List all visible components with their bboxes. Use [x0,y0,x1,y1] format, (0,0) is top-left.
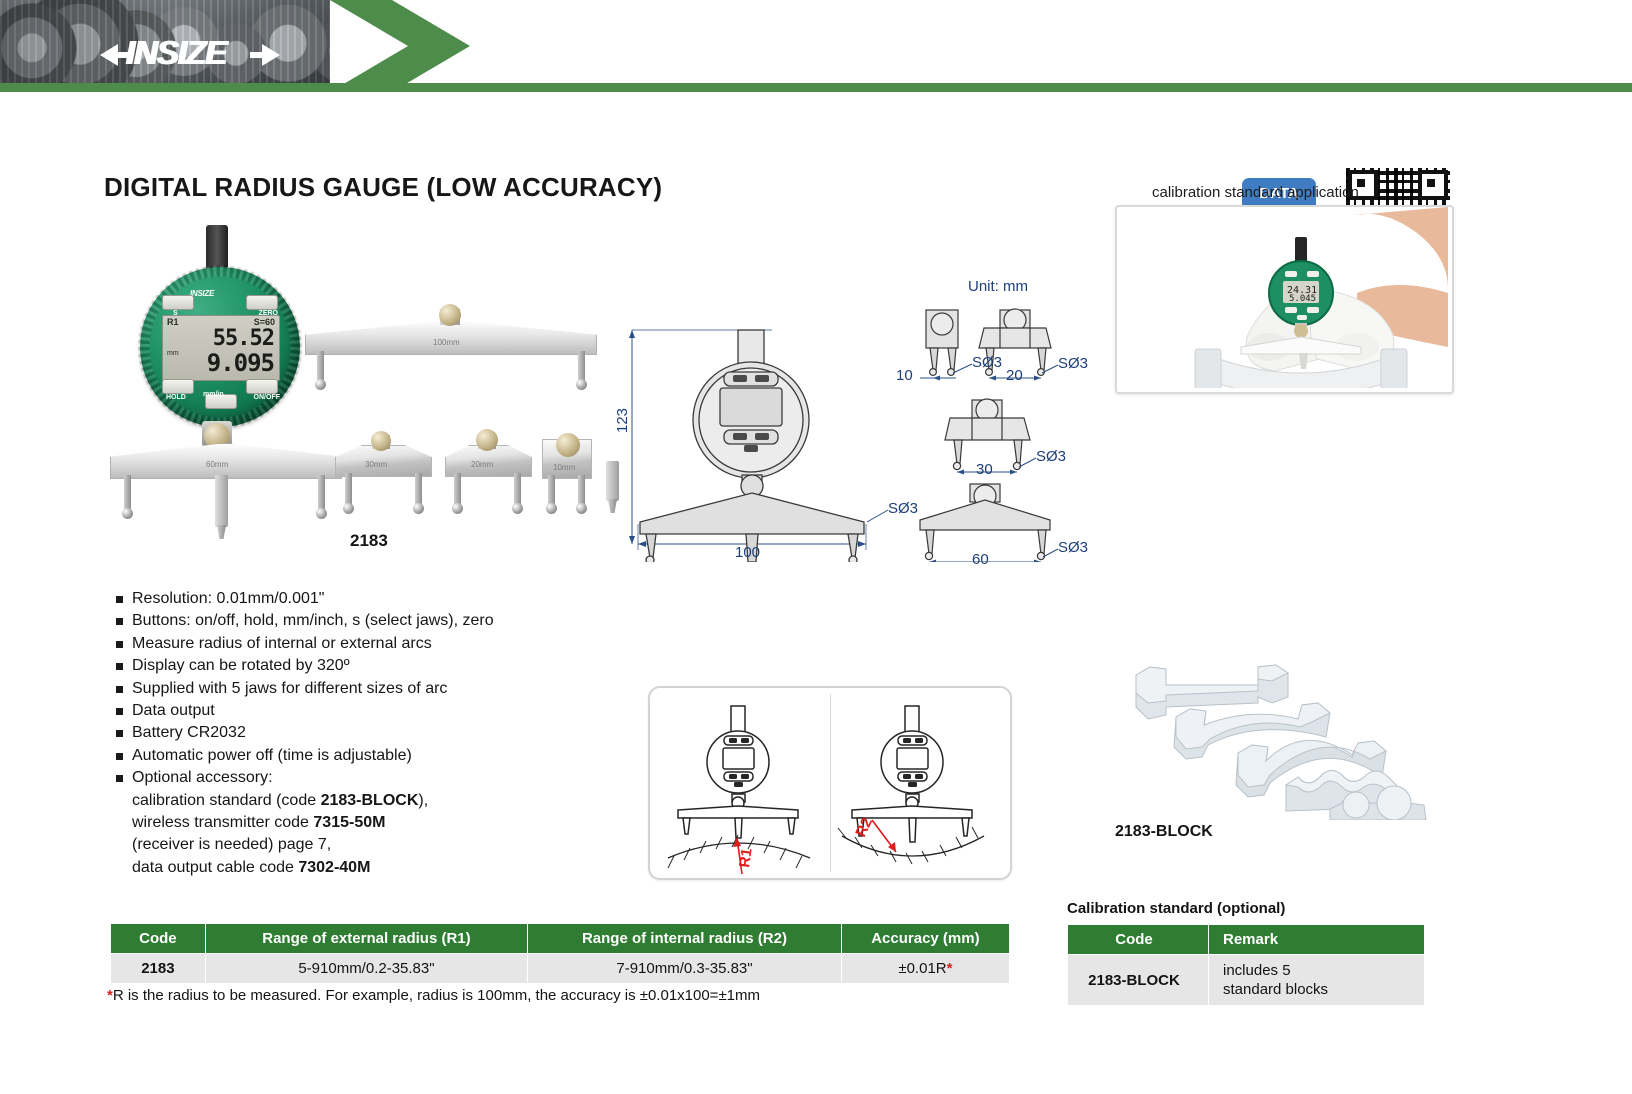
opt-line1-code: 2183-BLOCK [321,792,419,809]
cal-remark-line-2: standard blocks [1223,980,1416,999]
dim-ball-dia-main: SØ3 [888,500,918,517]
lcd-value-bottom: 9.095 [163,349,274,377]
calibration-table-title: Calibration standard (optional) [1067,900,1285,917]
optional-accessory-line-4: data output cable code 7302-40M [110,857,494,879]
dim-ball-dia-20: SØ3 [1058,355,1088,372]
opt-line1-post: ), [418,792,428,809]
page-title: DIGITAL RADIUS GAUGE (LOW ACCURACY) [104,172,662,203]
jaw-10mm-label: 10mm [553,463,575,472]
feature-item: Supplied with 5 jaws for different sizes… [110,678,494,700]
dim-ball-dia-60: SØ3 [1058,539,1088,556]
footnote-marker-icon: * [947,960,953,977]
feature-item: Resolution: 0.01mm/0.001" [110,588,494,610]
dimension-drawing: 123 100 SØ3 10 SØ3 20 SØ3 30 SØ3 60 SØ3 [620,272,1060,562]
jaw-60mm-label: 60mm [206,460,228,469]
gauge-button-hold [162,379,194,394]
center-probe [215,475,228,527]
jaw-100mm-leg-left [317,351,324,381]
feature-item-optional-accessory: Optional accessory: [110,767,494,789]
logo-right-arrow-icon [262,44,280,66]
jaw-10mm-leg-left [548,475,555,505]
dim-ball-dia-10: SØ3 [972,354,1002,371]
jaw-30mm-leg-left [345,473,352,505]
jaw-20mm-label: 20mm [471,460,493,469]
dim-jaw-10-label: 10 [896,367,913,384]
feature-item: Battery CR2032 [110,722,494,744]
dim-ball-dia-30: SØ3 [1036,448,1066,465]
optional-accessory-heading: Optional accessory: [132,769,273,786]
gauge-lcd-display: R1 S=60 mm 55.52 9.095 [162,315,280,381]
table-row: 2183 5-910mm/0.2-35.83" 7-910mm/0.3-35.8… [111,954,1010,984]
green-baseline-bar [330,83,1632,92]
application-photo: 24.31 5.045 [1115,205,1454,394]
product-photo: INSIZE S ZERO R1 S=60 mm 55.52 9.095 HOL… [110,225,620,535]
jaw-20mm-ball [476,429,498,451]
cell-external-range: 5-910mm/0.2-35.83" [205,954,527,984]
cell-accuracy-value: ±0.01R [898,960,946,977]
jaw-30mm-label: 30mm [365,460,387,469]
gauge-button-mmin-label: mm/in [203,391,224,398]
gauge-housing: INSIZE S ZERO R1 S=60 mm 55.52 9.095 HOL… [140,267,300,427]
gauge-button-hold-label: HOLD [166,394,186,401]
table-footnote: *R is the radius to be measured. For exa… [107,987,760,1004]
page-header: INSIZE [0,0,1632,92]
svg-text:5.045: 5.045 [1289,294,1316,304]
svg-text:R2: R2 [852,815,876,840]
opt-line2-pre: wireless transmitter code [132,814,313,831]
jaw-100mm-ball [439,304,461,326]
th-code: Code [111,924,206,954]
jaw-60mm: 60mm [110,443,340,477]
footnote-text: R is the radius to be measured. For exam… [113,987,760,1004]
radius-measurement-diagram-panel: R1 [648,686,1012,880]
cell-internal-range: 7-910mm/0.3-35.83" [528,954,842,984]
dim-base-width-label: 100 [735,544,760,561]
calibration-blocks-photo [1090,645,1450,820]
gauge-button-onoff-label: ON/OFF [254,394,280,401]
optional-accessory-line-1: calibration standard (code 2183-BLOCK), [110,790,494,812]
cal-remark-line-1: includes 5 [1223,961,1416,980]
table-header-row: Code Range of external radius (R1) Range… [111,924,1010,954]
calibration-block-code: 2183-BLOCK [1115,823,1213,841]
gauge-button-s [162,295,194,310]
opt-line1-pre: calibration standard (code [132,792,321,809]
feature-item: Data output [110,700,494,722]
specifications-table: Code Range of external radius (R1) Range… [110,923,1010,984]
green-baseline-bar-left [0,83,340,92]
th-external-range: Range of external radius (R1) [205,924,527,954]
cell-cal-code: 2183-BLOCK [1068,955,1209,1006]
lcd-value-top: 55.52 [163,326,274,351]
jaw-100mm-label: 100mm [433,338,460,347]
center-probe-tip [217,525,226,539]
gauge-button-zero [246,295,278,310]
jaw-10mm-leg-right [578,475,585,505]
th-cal-remark: Remark [1209,925,1425,955]
jaw-60mm-leg-right [318,475,325,510]
insize-logo[interactable]: INSIZE [100,36,280,76]
application-caption: calibration standard application [1152,184,1359,201]
dim-jaw-30-label: 30 [976,461,993,478]
dim-jaw-60-label: 60 [972,551,989,568]
jaw-20mm-leg-right [514,473,521,505]
dim-height-label: 123 [614,408,631,433]
spare-probe [606,461,619,501]
features-list: Resolution: 0.01mm/0.001" Buttons: on/of… [110,588,494,879]
feature-item: Display can be rotated by 320º [110,655,494,677]
jaw-20mm-leg-left [454,473,461,505]
optional-accessory-line-3: (receiver is needed) page 7, [110,834,494,856]
th-accuracy: Accuracy (mm) [841,924,1009,954]
product-code-caption: 2183 [350,531,388,551]
dim-jaw-20-label: 20 [1006,367,1023,384]
th-internal-range: Range of internal radius (R2) [528,924,842,954]
gauge-button-onoff [246,379,278,394]
jaw-30mm-ball [371,431,391,451]
svg-text:R1: R1 [736,847,756,868]
digital-gauge-unit: INSIZE S ZERO R1 S=60 mm 55.52 9.095 HOL… [140,225,300,440]
jaw-60mm-leg-left [124,475,131,510]
optional-accessory-line-2: wireless transmitter code 7315-50M [110,812,494,834]
feature-item: Buttons: on/off, hold, mm/inch, s (selec… [110,610,494,632]
table-row: 2183-BLOCK includes 5 standard blocks [1068,955,1425,1006]
cell-accuracy: ±0.01R* [841,954,1009,984]
header-green-region [330,0,1632,92]
calibration-standard-table: Code Remark 2183-BLOCK includes 5 standa… [1067,924,1425,1006]
table-header-row: Code Remark [1068,925,1425,955]
opt-line4-pre: data output cable code [132,859,298,876]
jaw-10mm-ball [556,433,580,457]
cell-cal-remark: includes 5 standard blocks [1209,955,1425,1006]
feature-item: Measure radius of internal or external a… [110,633,494,655]
green-arrow-shape [330,0,470,92]
jaw-30mm-leg-right [415,473,422,505]
cell-code: 2183 [111,954,206,984]
spare-probe-tip [608,499,617,513]
jaw-100mm-leg-right [578,351,585,381]
opt-line2-code: 7315-50M [313,814,385,831]
logo-text: INSIZE [126,34,226,72]
opt-line4-code: 7302-40M [298,859,370,876]
feature-item: Automatic power off (time is adjustable) [110,745,494,767]
th-cal-code: Code [1068,925,1209,955]
